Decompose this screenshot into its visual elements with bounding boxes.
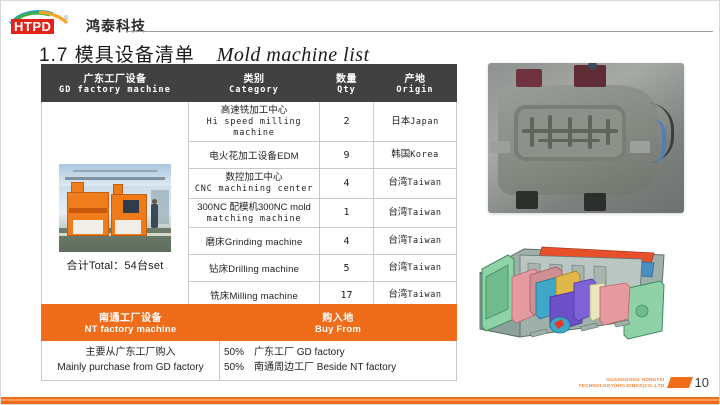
origin-en: Taiwan [407,208,441,218]
origin-en: Japan [410,117,439,127]
qty-cell: 9 [320,142,374,169]
nt-header-row: 南通工厂设备 NT factory machine 购入地 Buy From [42,305,457,341]
footer-company-line-2: TECHNOLOGY(HOLDINGS)CO.,LTD [579,383,665,388]
origin-cn: 台湾 [388,289,407,300]
qty-cell: 4 [320,228,374,255]
origin-en: Taiwan [407,236,441,246]
header-nt-factory-machine: 南通工厂设备 NT factory machine [42,305,220,341]
gd-factory-machine-photo [59,164,171,252]
category-cn: 铣床Milling machine [210,291,298,302]
qty-cell: 1 [320,198,374,228]
header-qty: 数量 Qty [320,65,374,102]
header-cn: 南通工厂设备 [44,309,217,324]
category-cn: 电火花加工设备EDM [209,151,299,162]
category-cell: 电火花加工设备EDM [189,142,320,169]
header-en: GD factory machine [44,85,186,95]
buy-from-percent: 50% [224,361,254,376]
nt-purchase-note-cell: 主要从广东工厂购入 Mainly purchase from GD factor… [42,341,220,381]
buy-from-label: 南通周边工厂 Beside NT factory [254,362,396,373]
mold-die-photo [488,63,684,213]
header-gd-factory-machine: 广东工厂设备 GD factory machine [42,65,189,102]
qty-cell: 4 [320,169,374,199]
header-en: Origin [376,85,454,95]
mold-cad-render [464,233,690,357]
header-category: 类别 Category [189,65,320,102]
category-en: Hi speed milling machine [193,117,315,138]
category-cn: 高速铣加工中心 [193,105,315,117]
header-en: Qty [322,85,371,95]
qty-cell: 2 [320,102,374,142]
category-cell: 300NC 配模机300NC mold matching machine [189,198,320,228]
nt-equipment-table: 南通工厂设备 NT factory machine 购入地 Buy From 主… [41,304,457,381]
header-en: NT factory machine [44,324,217,335]
category-cell: 数控加工中心 CNC machining center [189,169,320,199]
header-buy-from: 购入地 Buy From [220,305,457,341]
origin-cell: 台湾Taiwan [374,169,457,199]
origin-cell: 台湾Taiwan [374,255,457,282]
nt-buy-from-cell: 50%广东工厂 GD factory 50%南通周边工厂 Beside NT f… [220,341,457,381]
buy-from-entry: 50%广东工厂 GD factory [224,346,452,361]
origin-en: Taiwan [407,178,441,188]
total-count-label: 合计Total：54台set [67,252,164,275]
category-cell: 高速铣加工中心 Hi speed milling machine [189,102,320,142]
header-en: Category [191,85,317,95]
origin-cn: 台湾 [388,262,407,273]
origin-cn: 韩国 [391,149,410,160]
origin-cell: 韩国Korea [374,142,457,169]
logo-mark: HTPD ® [9,10,81,37]
table-header-row: 广东工厂设备 GD factory machine 类别 Category 数量… [42,65,457,102]
footer-accent-shape [667,377,693,388]
header-en: Buy From [222,324,454,335]
page-number: 10 [695,375,709,390]
logo-wordmark: HTPD [11,19,54,34]
category-cn: 数控加工中心 [193,172,315,184]
category-cn: 钻床Drilling machine [209,264,299,275]
logo-chinese-name: 鸿泰科技 [86,16,146,37]
origin-en: Korea [410,150,439,160]
registered-mark-icon: ® [64,16,68,22]
origin-cell: 台湾Taiwan [374,198,457,228]
company-logo: HTPD ® 鸿泰科技 [9,10,146,37]
origin-en: Taiwan [407,263,441,273]
table-row: 合计Total：54台set 高速铣加工中心 Hi speed milling … [42,102,457,142]
nt-note-cn: 主要从广东工厂购入 [46,346,215,361]
origin-cn: 台湾 [388,235,407,246]
nt-table-row: 主要从广东工厂购入 Mainly purchase from GD factor… [42,341,457,381]
slide-canvas: HTPD ® 鸿泰科技 1.7 模具设备清单 Mold machine list… [0,0,720,405]
qty-cell: 5 [320,255,374,282]
header-cn: 购入地 [222,309,454,324]
slide-footer: GUANGDONG HONGTAI TECHNOLOGY(HOLDINGS)CO… [579,375,709,390]
buy-from-percent: 50% [224,346,254,361]
header-cn: 广东工厂设备 [44,70,186,85]
bottom-accent-bar-highlight [1,399,719,401]
category-cn: 磨床Grinding machine [205,237,302,248]
origin-cell: 日本Japan [374,102,457,142]
buy-from-label: 广东工厂 GD factory [254,347,345,358]
origin-cn: 台湾 [388,177,407,188]
category-en: CNC machining center [193,184,315,195]
origin-cn: 日本 [391,116,410,127]
origin-en: Taiwan [407,290,441,300]
page-title: 1.7 模具设备清单 Mold machine list [39,40,370,67]
category-en: matching machine [193,214,315,225]
category-cell: 钻床Drilling machine [189,255,320,282]
origin-cn: 台湾 [388,207,407,218]
buy-from-entry: 50%南通周边工厂 Beside NT factory [224,361,452,376]
page-title-chinese: 1.7 模具设备清单 [39,40,195,67]
gd-factory-photo-cell: 合计Total：54台set [42,102,189,339]
header-cn: 数量 [322,70,371,85]
footer-company-name: GUANGDONG HONGTAI TECHNOLOGY(HOLDINGS)CO… [579,377,665,388]
category-cn: 300NC 配模机300NC mold [193,202,315,214]
header-cn: 产地 [376,70,454,85]
origin-cell: 台湾Taiwan [374,228,457,255]
nt-note-en: Mainly purchase from GD factory [46,361,215,376]
category-cell: 磨床Grinding machine [189,228,320,255]
header-origin: 产地 Origin [374,65,457,102]
die-core-detail [522,113,618,153]
header-cn: 类别 [191,70,317,85]
gd-equipment-table: 广东工厂设备 GD factory machine 类别 Category 数量… [41,64,457,339]
header-divider [127,31,713,32]
